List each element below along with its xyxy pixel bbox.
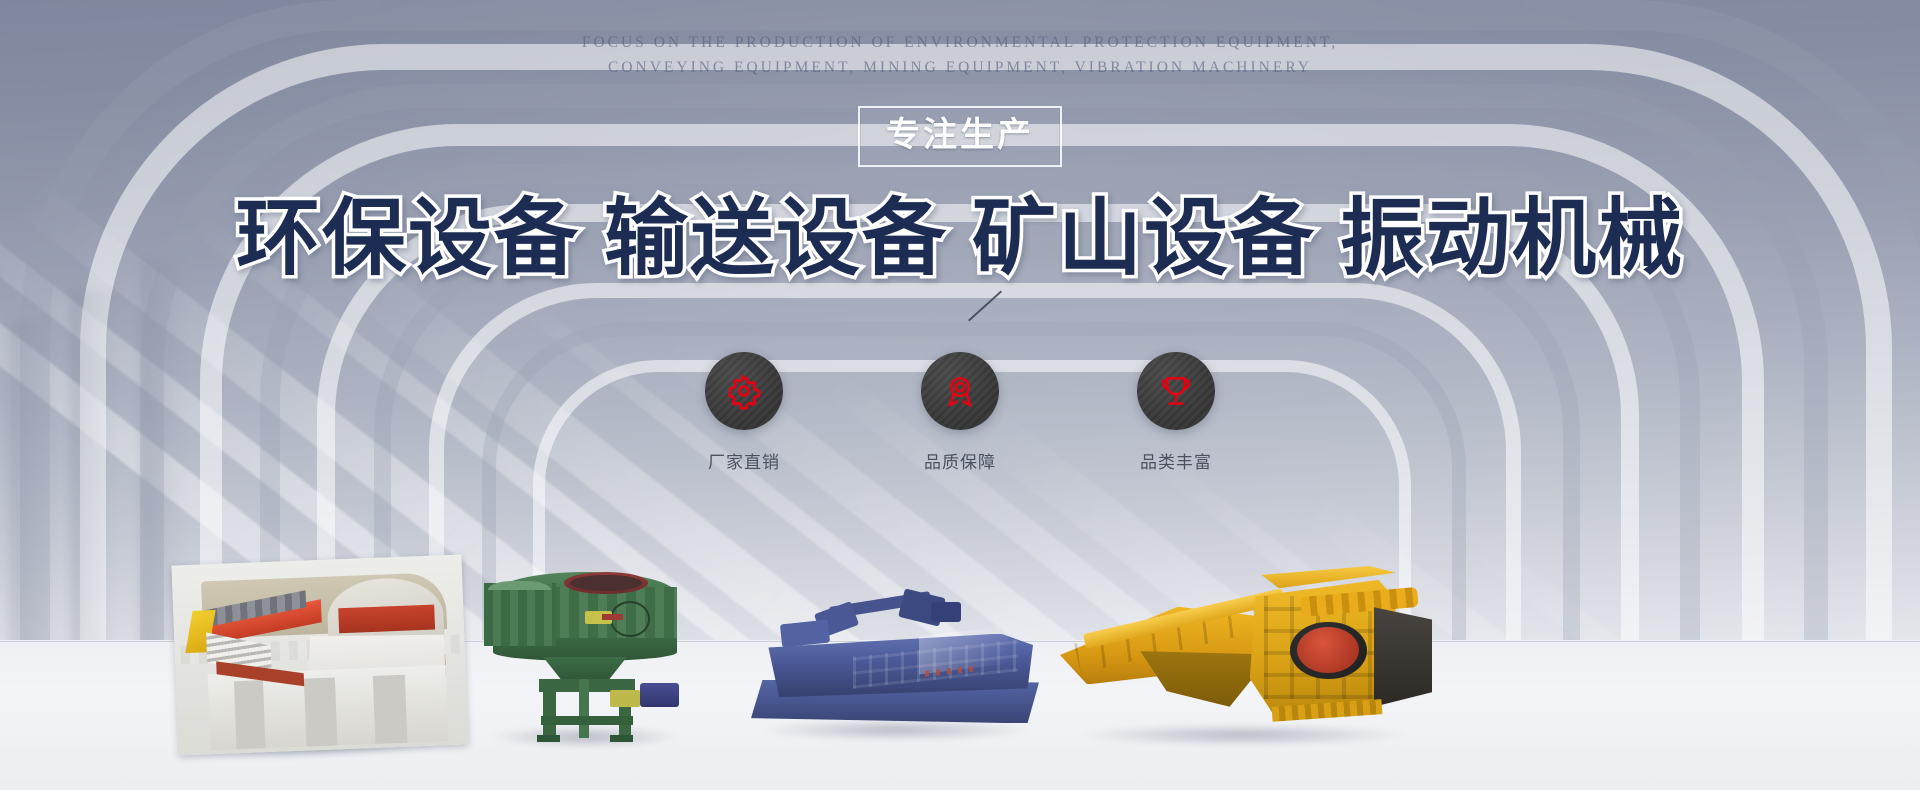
feature-item-quality-guarantee: 品质保障 <box>884 352 1036 473</box>
hero-banner: FOCUS ON THE PRODUCTION OF ENVIRONMENTAL… <box>0 0 1920 790</box>
product-green-feeder <box>480 557 690 742</box>
feature-list: 厂家直销 品质保障 <box>668 352 1252 473</box>
focus-production-badge: 专注生产 <box>858 106 1062 167</box>
headline-part-3: 矿山设备 <box>972 189 1316 287</box>
focus-production-label: 专注生产 <box>886 118 1034 152</box>
feature-item-factory-direct: 厂家直销 <box>668 352 820 473</box>
headline-part-4: 振动机械 <box>1340 189 1684 287</box>
decorative-tick-mark <box>968 291 1002 322</box>
feature-item-rich-variety: 品类丰富 <box>1100 352 1252 473</box>
headline-part-1: 环保设备 <box>236 189 580 287</box>
headline-part-2: 输送设备 <box>604 189 948 287</box>
medal-icon <box>921 352 999 430</box>
product-photo-row <box>0 460 1920 790</box>
trophy-icon <box>1137 352 1215 430</box>
gear-icon <box>705 352 783 430</box>
english-tagline: FOCUS ON THE PRODUCTION OF ENVIRONMENTAL… <box>0 30 1920 80</box>
product-blue-vibrating-screen <box>745 590 1045 735</box>
product-screening-plant <box>171 555 468 756</box>
main-headline: 环保设备输送设备矿山设备振动机械 <box>0 186 1920 290</box>
product-yellow-jaw-crusher <box>1060 555 1425 740</box>
